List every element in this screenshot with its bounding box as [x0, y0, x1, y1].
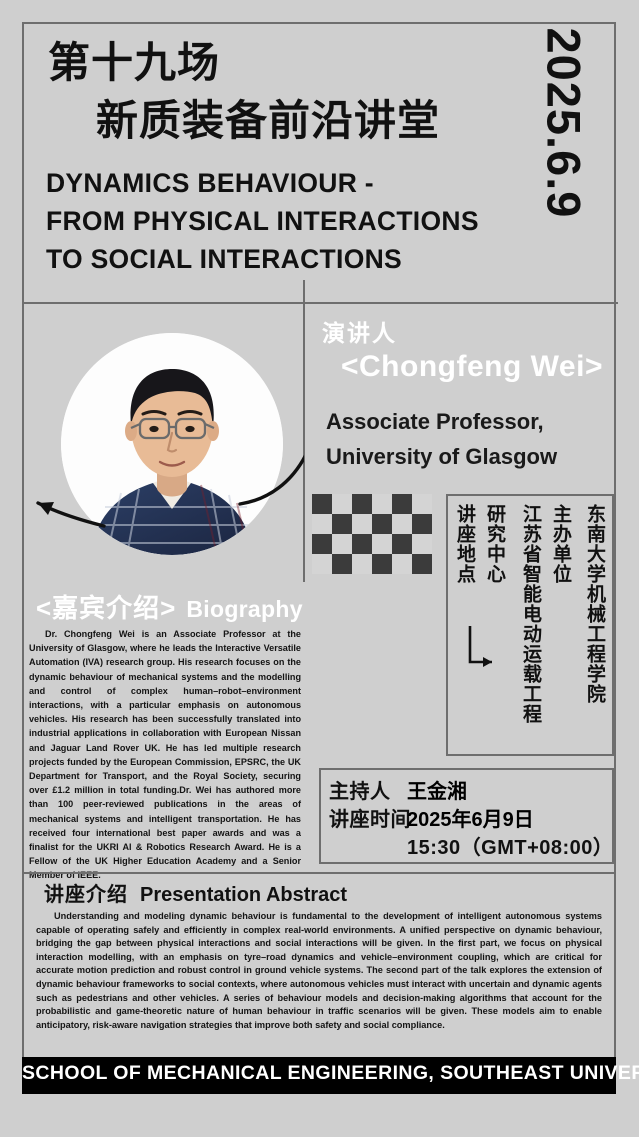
speaker-label: 演讲人: [322, 314, 397, 348]
biography-text: Dr. Chongfeng Wei is an Associate Profes…: [29, 627, 301, 883]
english-title-line1: DYNAMICS BEHAVIOUR -: [46, 164, 546, 202]
speaker-name: <Chongfeng Wei>: [341, 350, 603, 384]
time-label: 讲座时间: [329, 803, 411, 832]
venue-label: 讲座地点: [454, 504, 474, 584]
host-label: 主持人: [329, 775, 391, 804]
english-title: DYNAMICS BEHAVIOUR - FROM PHYSICAL INTER…: [46, 164, 546, 278]
header-divider: [24, 302, 618, 304]
biography-paragraph: Dr. Chongfeng Wei is an Associate Profes…: [29, 627, 301, 883]
biography-heading: <嘉宾介绍>Biography: [36, 588, 306, 625]
time-date: 2025年6月9日: [407, 803, 534, 832]
checkerboard-decoration: [312, 494, 432, 574]
organiser-host-label: 主办单位: [550, 504, 570, 584]
footer-bar: SCHOOL OF MECHANICAL ENGINEERING, SOUTHE…: [22, 1057, 616, 1094]
speaker-photo-block: [24, 306, 304, 582]
abstract-paragraph: Understanding and modeling dynamic behav…: [36, 910, 602, 1032]
biography-panel: <嘉宾介绍>Biography Dr. Chongfeng Wei is an …: [24, 584, 304, 866]
host-time-box: 主持人 王金湘 讲座时间 2025年6月9日 15:30（GMT+08:00）: [319, 768, 614, 864]
poster-root: 第十九场 新质装备前沿讲堂 DYNAMICS BEHAVIOUR - FROM …: [0, 0, 639, 1137]
host-name: 王金湘: [407, 775, 467, 804]
footer-text: SCHOOL OF MECHANICAL ENGINEERING, SOUTHE…: [22, 1057, 616, 1090]
date-vertical-text: 2025.6.9: [537, 28, 592, 278]
corner-arrow-down-icon: [462, 624, 502, 672]
speaker-role-line2: University of Glasgow: [326, 444, 557, 470]
english-title-line3: TO SOCIAL INTERACTIONS: [46, 240, 546, 278]
abstract-panel: 讲座介绍Presentation Abstract Understanding …: [24, 872, 614, 1052]
organiser-center-2: 研究中心: [484, 504, 504, 584]
curved-arrow-right-icon: [236, 428, 304, 510]
biography-heading-cn: <嘉宾介绍>: [36, 593, 176, 623]
abstract-heading: 讲座介绍Presentation Abstract: [44, 878, 347, 907]
speaker-role-line1: Associate Professor,: [326, 409, 544, 435]
poster-header: 第十九场 新质装备前沿讲堂 DYNAMICS BEHAVIOUR - FROM …: [24, 24, 614, 302]
curved-arrow-left-icon: [30, 492, 108, 532]
biography-heading-en: Biography: [186, 596, 302, 622]
chinese-title-line2: 新质装备前沿讲堂: [96, 92, 524, 150]
abstract-heading-cn: 讲座介绍: [44, 884, 128, 906]
chinese-title: 第十九场 新质装备前沿讲堂: [44, 34, 524, 150]
english-title-line2: FROM PHYSICAL INTERACTIONS: [46, 202, 546, 240]
time-clock: 15:30（GMT+08:00）: [407, 831, 613, 860]
date-vertical: 2025.6.9: [529, 30, 589, 300]
speaker-info-block: 演讲人 <Chongfeng Wei> Associate Professor,…: [313, 306, 613, 496]
organiser-center: 江苏省智能电动运载工程: [520, 504, 540, 724]
abstract-text: Understanding and modeling dynamic behav…: [36, 910, 602, 1032]
abstract-heading-en: Presentation Abstract: [140, 884, 347, 906]
organiser-panel: 东南大学机械工程学院 主办单位 江苏省智能电动运载工程 研究中心 讲座地点: [446, 494, 614, 756]
chinese-title-line1: 第十九场: [48, 34, 524, 92]
organiser-school: 东南大学机械工程学院: [584, 504, 604, 704]
